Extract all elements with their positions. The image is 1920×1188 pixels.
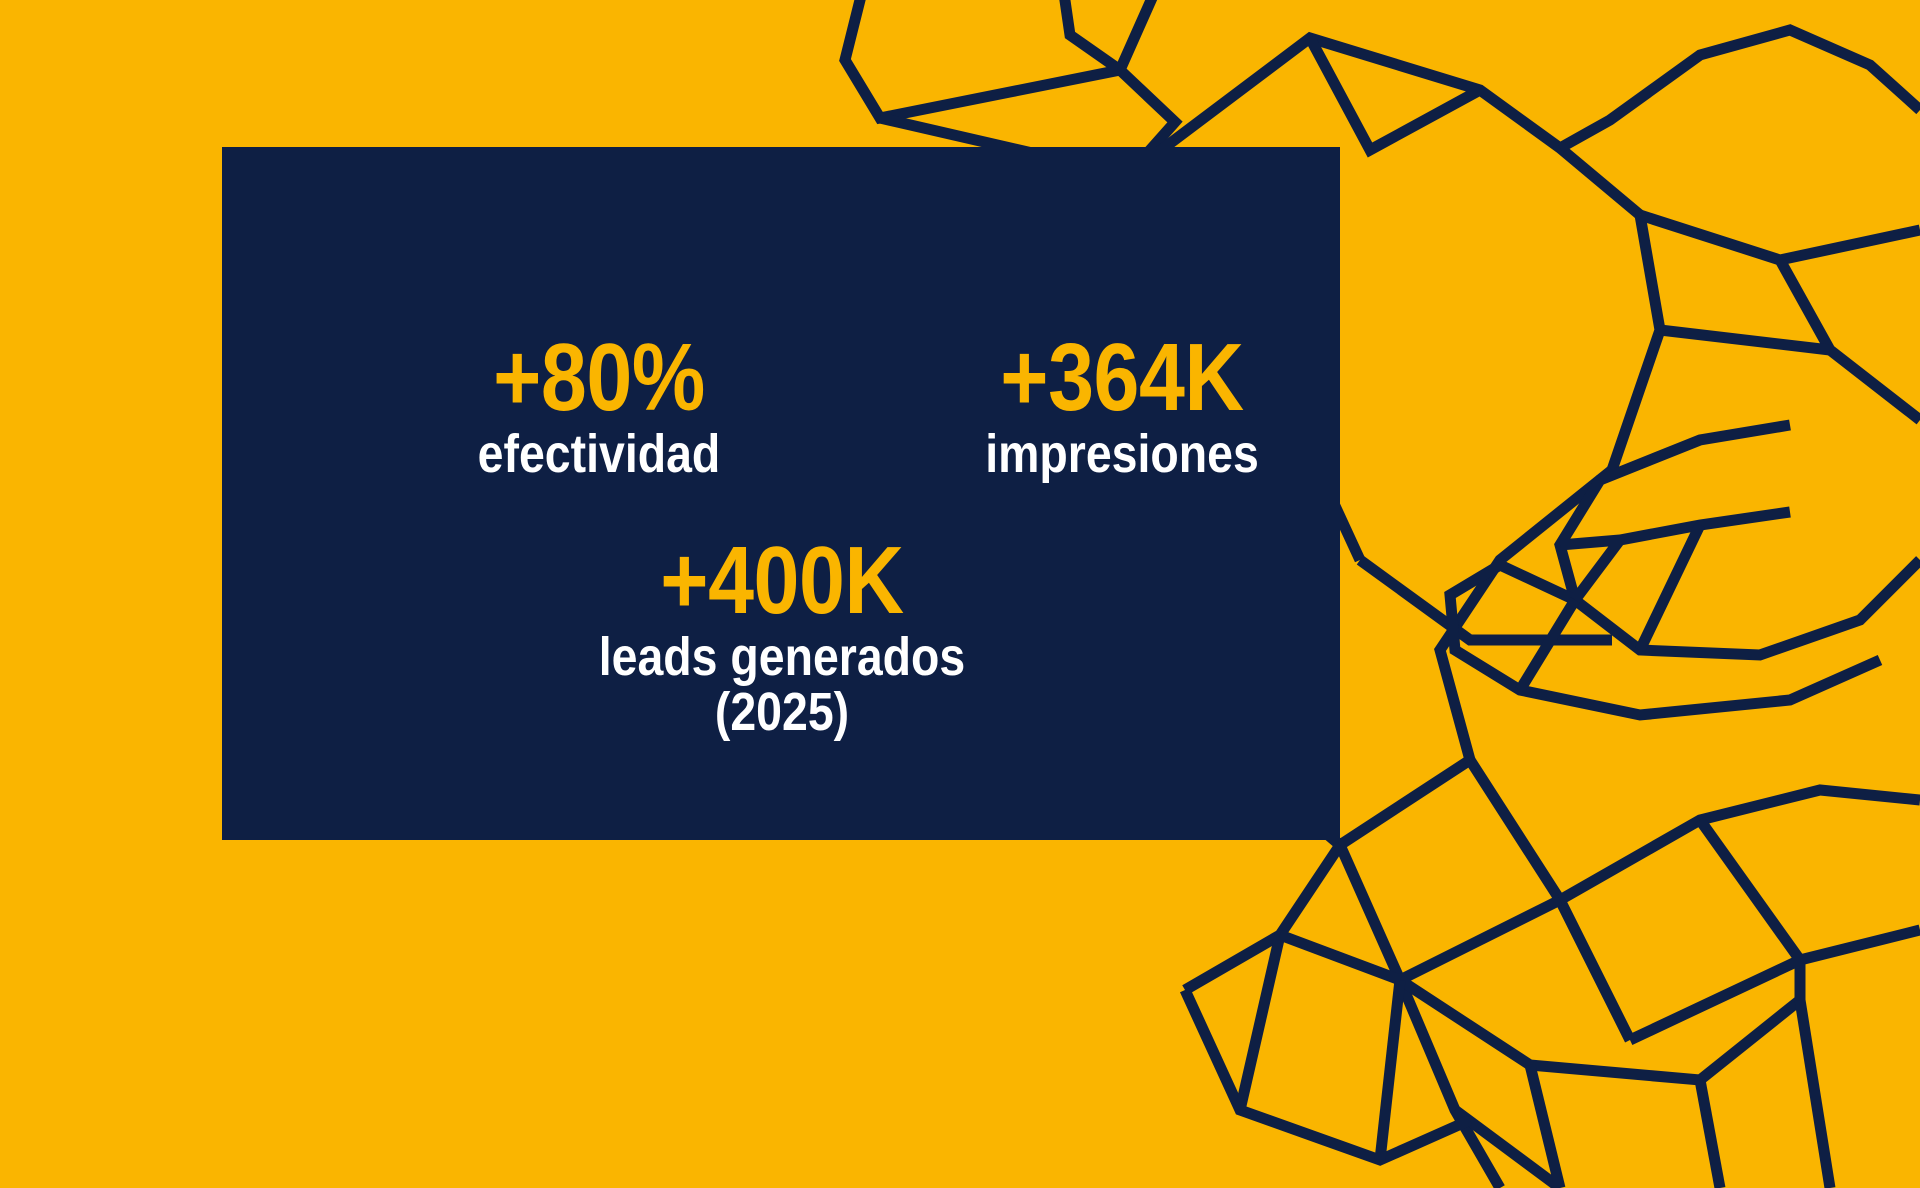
stat-leads-generados-label-line1: leads generados (599, 627, 966, 687)
statistics-card: +80% efectividad +364K impresiones +400K… (222, 147, 1340, 840)
slide-canvas: +80% efectividad +364K impresiones +400K… (0, 0, 1920, 1188)
stat-leads-generados: +400K leads generados (2025) (552, 535, 1012, 740)
stat-impresiones: +364K impresiones (912, 332, 1332, 482)
stat-impresiones-value: +364K (941, 332, 1302, 423)
stat-leads-generados-label: leads generados (2025) (584, 630, 980, 740)
stat-leads-generados-label-line2: (2025) (584, 685, 980, 740)
stat-impresiones-label: impresiones (941, 427, 1302, 482)
stat-efectividad-label: efectividad (431, 427, 766, 482)
stat-efectividad-value: +80% (431, 332, 766, 423)
stat-efectividad: +80% efectividad (404, 332, 794, 482)
stat-leads-generados-value: +400K (584, 535, 980, 626)
statistics-group: +80% efectividad +364K impresiones +400K… (222, 147, 1340, 840)
